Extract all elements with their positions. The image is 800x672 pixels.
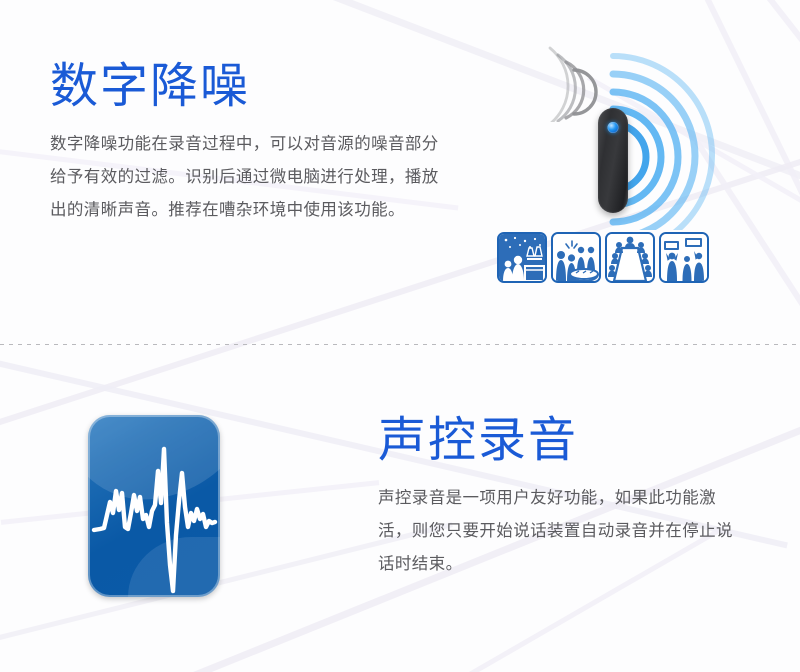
audio-waveform-icon [88, 415, 220, 597]
product-feature-page: 数字降噪 数字降噪功能在录音过程中，可以对音源的噪音部分给予有效的过滤。识别后通… [0, 0, 800, 672]
crowd-party-icon [497, 232, 547, 283]
conference-meeting-icon [605, 232, 655, 283]
voice-recorder-device [598, 108, 628, 213]
audio-waveform-icon-tile [88, 415, 220, 597]
section1-title: 数字降噪 [50, 62, 450, 112]
section-voice-activated-recording: 声控录音 声控录音是一项用户友好功能，如果此功能激活，则您只要开始说话装置自动录… [0, 344, 800, 672]
device-led-indicator [608, 122, 619, 133]
section2-title: 声控录音 [378, 416, 748, 466]
section1-text-block: 数字降噪 数字降噪功能在录音过程中，可以对音源的噪音部分给予有效的过滤。识别后通… [50, 62, 450, 227]
rally-presentation-icon [659, 232, 709, 283]
section2-body-text: 声控录音是一项用户友好功能，如果此功能激活，则您只要开始说话装置自动录音并在停止… [378, 482, 734, 581]
birthday-celebration-icon [551, 232, 601, 283]
sound-wave-gray-icon [508, 42, 598, 122]
scenario-icon-row [497, 232, 709, 283]
section1-body-text: 数字降噪功能在录音过程中，可以对音源的噪音部分给予有效的过滤。识别后通过微电脑进… [50, 128, 442, 227]
section2-text-block: 声控录音 声控录音是一项用户友好功能，如果此功能激活，则您只要开始说话装置自动录… [378, 416, 748, 581]
section-digital-noise-reduction: 数字降噪 数字降噪功能在录音过程中，可以对音源的噪音部分给予有效的过滤。识别后通… [0, 0, 800, 344]
